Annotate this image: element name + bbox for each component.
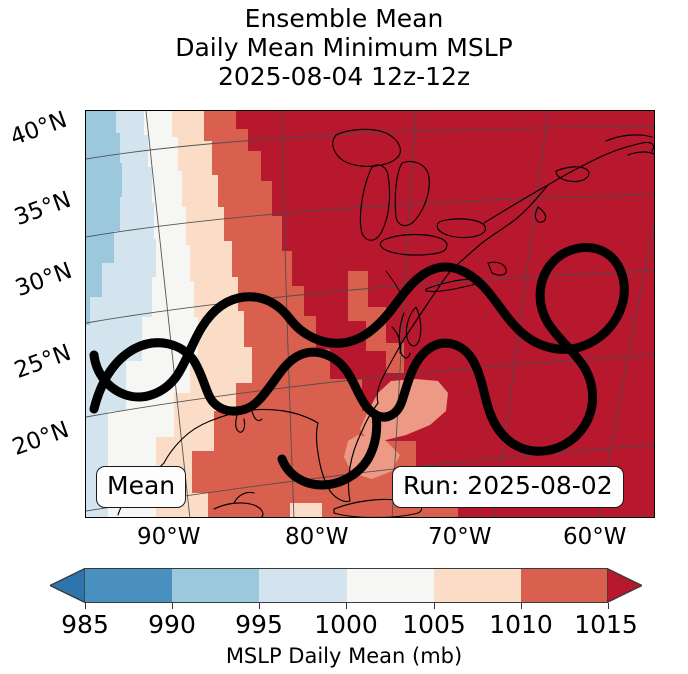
colorbar-tick-label-1015: 1015 — [574, 610, 638, 639]
colorbar-band-1000-1005 — [347, 568, 434, 603]
colorbar-tick-0 — [85, 603, 86, 609]
map-panel[interactable] — [85, 110, 655, 518]
title-line-3: 2025-08-04 12z-12z — [0, 62, 688, 91]
colorbar-over-arrow — [607, 568, 642, 603]
map-raster — [86, 111, 655, 518]
lon-tick-label-80w: 80°W — [285, 524, 349, 550]
lon-tick-label-60w: 60°W — [563, 524, 627, 550]
colorbar-tick-3 — [346, 603, 347, 609]
lat-tick-label-25n: 25°N — [11, 340, 74, 384]
colorbar-tick-4 — [434, 603, 435, 609]
colorbar-band-1010-1015 — [521, 568, 608, 603]
lon-tick-label-90w: 90°W — [137, 524, 201, 550]
run-annotation-box: Run: 2025-08-02 — [392, 466, 624, 508]
colorbar-band-1005-1010 — [434, 568, 521, 603]
colorbar-tick-label-1010: 1010 — [489, 610, 553, 639]
mean-annotation-label: Mean — [107, 471, 175, 500]
colorbar-under-arrow — [50, 568, 85, 603]
colorbar-tick-label-1000: 1000 — [314, 610, 378, 639]
lat-tick-label-35n: 35°N — [11, 187, 74, 231]
colorbar-band-985-990 — [85, 568, 172, 603]
figure-canvas: Ensemble Mean Daily Mean Minimum MSLP 20… — [0, 0, 688, 674]
colorbar-tick-6 — [608, 603, 609, 609]
colorbar-tick-label-990: 990 — [148, 610, 196, 639]
lat-tick-label-30n: 30°N — [12, 258, 75, 302]
mean-annotation-box: Mean — [96, 466, 186, 508]
lat-tick-label-20n: 20°N — [9, 417, 72, 461]
colorbar-tick-1 — [172, 603, 173, 609]
colorbar[interactable]: 985 990 995 1000 1005 1010 1015 MSLP Dai… — [0, 560, 688, 674]
title-line-2: Daily Mean Minimum MSLP — [0, 33, 688, 62]
colorbar-tick-label-995: 995 — [235, 610, 283, 639]
colorbar-band-990-995 — [172, 568, 259, 603]
run-annotation-label: Run: 2025-08-02 — [403, 471, 613, 500]
map-frame — [85, 110, 655, 518]
page-title: Ensemble Mean Daily Mean Minimum MSLP 20… — [0, 4, 688, 91]
colorbar-tick-label-985: 985 — [61, 610, 109, 639]
colorbar-tick-2 — [259, 603, 260, 609]
colorbar-axis-label: MSLP Daily Mean (mb) — [0, 644, 688, 668]
lon-tick-label-70w: 70°W — [428, 524, 492, 550]
colorbar-band-995-1000 — [259, 568, 346, 603]
colorbar-tick-label-1005: 1005 — [402, 610, 466, 639]
colorbar-tick-5 — [521, 603, 522, 609]
title-line-1: Ensemble Mean — [0, 4, 688, 33]
colorbar-bands — [85, 568, 608, 603]
lat-tick-label-40n: 40°N — [7, 107, 70, 151]
